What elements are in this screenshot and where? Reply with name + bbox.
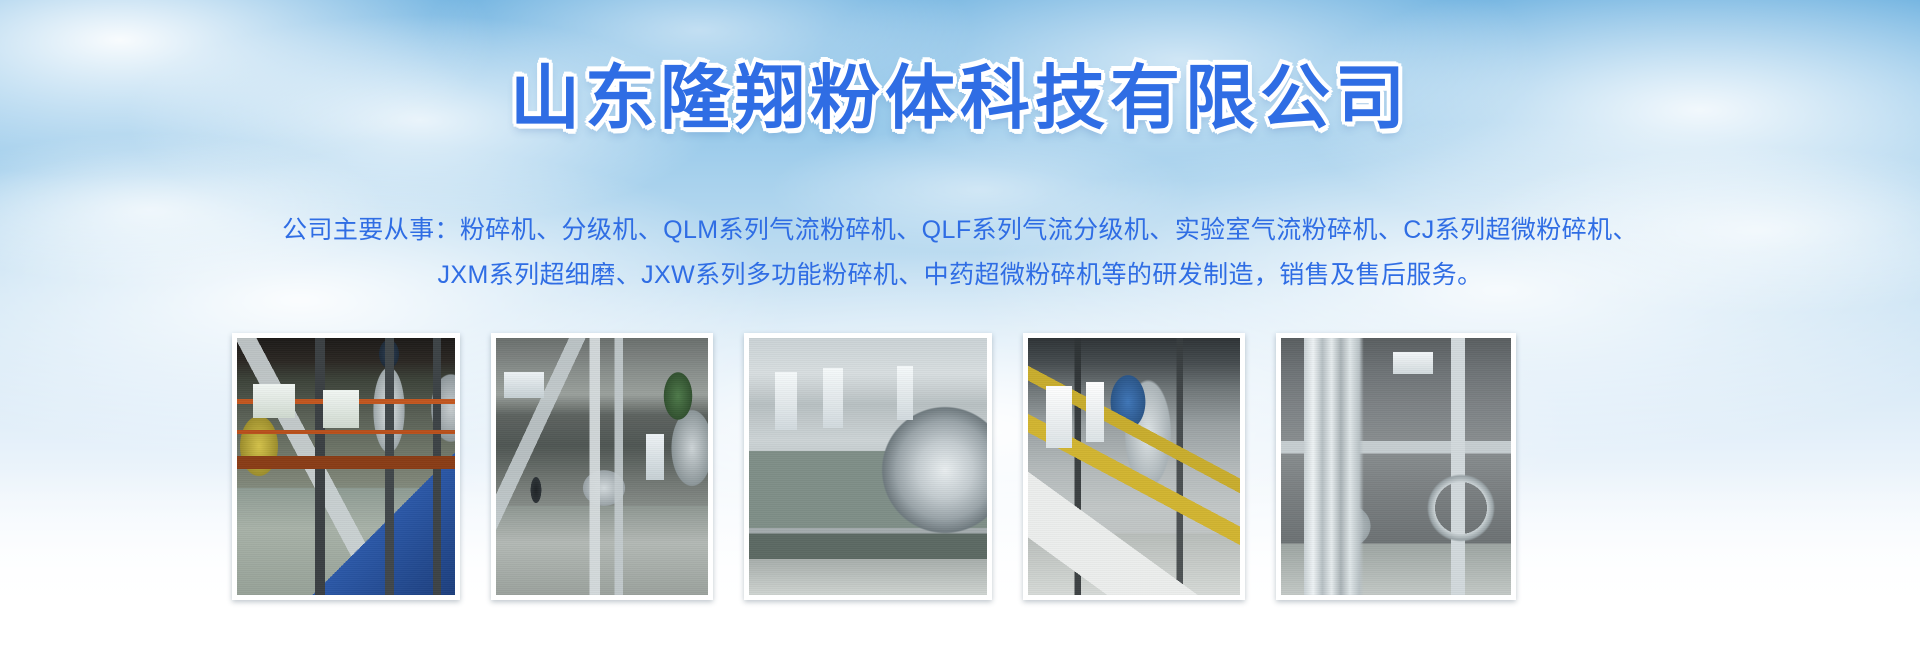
photo-grain-overlay [1028, 338, 1240, 595]
company-hero-banner: 山东隆翔粉体科技有限公司 公司主要从事：粉碎机、分级机、QLM系列气流粉碎机、Q… [0, 0, 1920, 667]
workshop-window [775, 372, 797, 430]
gallery-item-tower-stairs[interactable] [1023, 333, 1245, 600]
workshop-window [1046, 386, 1072, 448]
gallery-item-workshop-ducting[interactable] [491, 333, 713, 600]
gallery-item-motor-blower[interactable] [744, 333, 992, 600]
gallery-item-stainless-tank[interactable] [1276, 333, 1516, 600]
description-line-2: JXM系列超细磨、JXW系列多功能粉碎机、中药超微粉碎机等的研发制造，销售及售后… [0, 253, 1920, 298]
workshop-window [504, 372, 544, 398]
description-line-1: 公司主要从事：粉碎机、分级机、QLM系列气流粉碎机、QLF系列气流分级机、实验室… [0, 208, 1920, 253]
photo-grain-overlay [1281, 338, 1511, 595]
photo-tower-stairs [1028, 338, 1240, 595]
workshop-window [823, 368, 843, 428]
workshop-window [253, 384, 295, 418]
gallery-item-pulverizer-platform[interactable] [232, 333, 460, 600]
photo-workshop-ducting [496, 338, 708, 595]
company-name-headline: 山东隆翔粉体科技有限公司 [0, 56, 1920, 140]
workshop-window [897, 366, 913, 420]
workshop-window [1086, 382, 1104, 442]
workshop-window [646, 434, 664, 480]
photo-motor-blower [749, 338, 987, 595]
photo-pulverizer-platform [237, 338, 455, 595]
workshop-window [323, 390, 359, 428]
photo-stainless-tank [1281, 338, 1511, 595]
product-photo-gallery [232, 333, 1692, 600]
company-business-description: 公司主要从事：粉碎机、分级机、QLM系列气流粉碎机、QLF系列气流分级机、实验室… [0, 208, 1920, 298]
workshop-window [1393, 352, 1433, 374]
photo-grain-overlay [237, 338, 455, 595]
